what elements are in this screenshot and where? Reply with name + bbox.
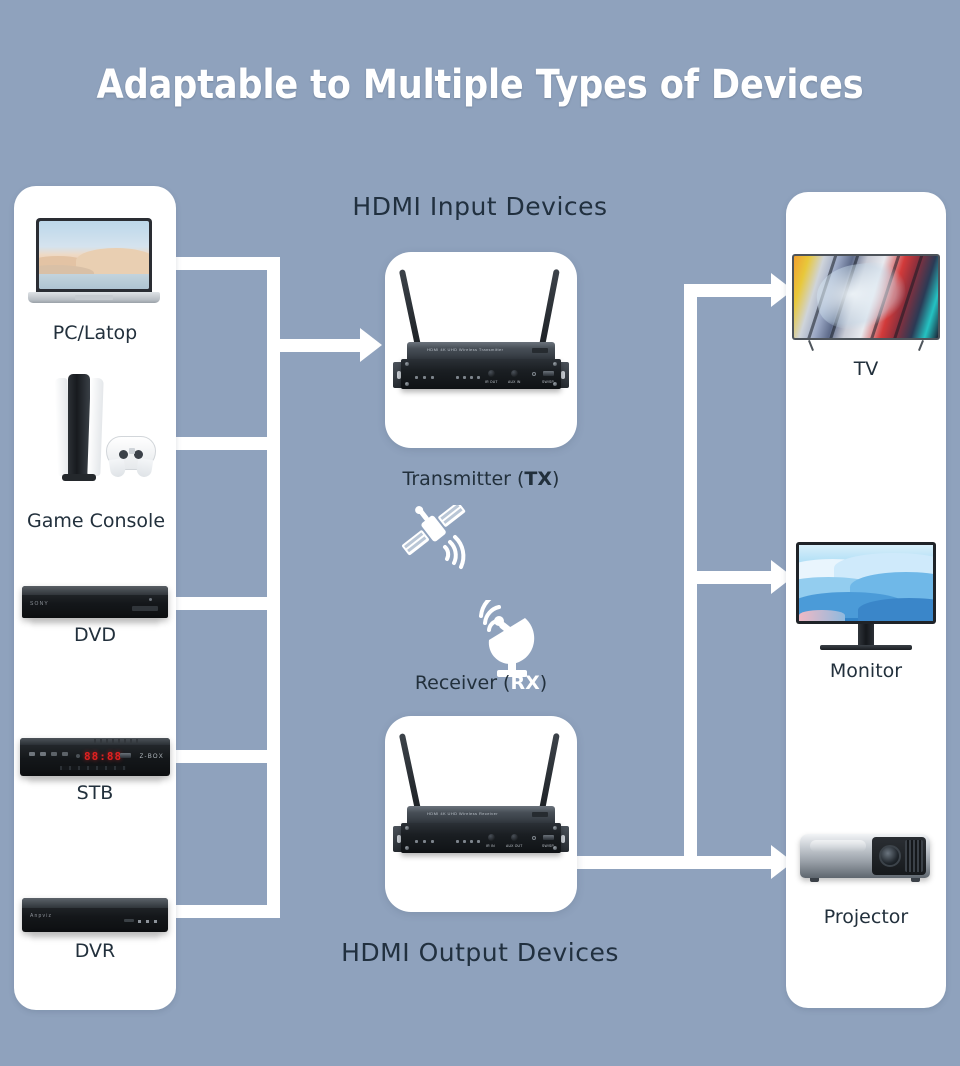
output-section-heading: HDMI Output Devices <box>310 938 650 967</box>
dvr-brand: Anpviz <box>30 913 52 919</box>
dvd-player-icon: SONY <box>22 586 168 620</box>
transmitter-port-ir-label: IR OUT <box>485 380 498 384</box>
input-device-label-dvr: DVR <box>14 940 176 962</box>
connector-run-receiver-to-projector <box>566 856 774 869</box>
connector-stub-stb <box>176 750 280 763</box>
set-top-box-icon: 88:88 Z-BOX <box>20 738 170 778</box>
transmitter-port-sw-label: SW/SP <box>542 380 554 384</box>
input-device-label-stb: STB <box>14 782 176 804</box>
receiver-device-icon: HDMI 4K UHD Wireless Receiver IR IN AUX … <box>393 732 569 864</box>
diagram-canvas: Adaptable to Multiple Types of Devices P… <box>0 0 960 1066</box>
connector-trunk-left <box>267 257 280 918</box>
tv-icon <box>792 254 940 352</box>
page-title: Adaptable to Multiple Types of Devices <box>58 62 903 108</box>
transmitter-device-icon: HDMI 4K UHD Wireless Transmitter IR OUT … <box>393 268 569 400</box>
game-console-icon <box>34 374 160 486</box>
transmitter-label-prefix: Transmitter ( <box>403 468 525 490</box>
transmitter-top-text: HDMI 4K UHD Wireless Transmitter <box>427 347 503 352</box>
input-device-label-console: Game Console <box>8 510 184 532</box>
stb-brand: Z-BOX <box>140 754 164 760</box>
laptop-icon <box>28 218 160 304</box>
output-device-label-projector: Projector <box>786 906 946 928</box>
connector-stub-dvd <box>176 597 280 610</box>
dvd-brand: SONY <box>30 601 49 607</box>
receiver-top-text: HDMI 4K UHD Wireless Receiver <box>427 811 498 816</box>
connector-run-to-transmitter <box>267 339 363 352</box>
transmitter-label: Transmitter (TX) <box>381 468 581 490</box>
connector-stub-dvr <box>176 905 280 918</box>
transmitter-port-aux-label: AUX IN <box>508 380 521 384</box>
connector-run-to-tv <box>684 284 774 297</box>
input-device-label-pc: PC/Latop <box>14 322 176 344</box>
stb-display: 88:88 <box>84 750 122 763</box>
connector-stub-pc <box>176 257 280 270</box>
receiver-label-prefix: Receiver ( <box>415 672 511 694</box>
receiver-port-aux-label: AUX OUT <box>506 844 522 848</box>
dvr-icon: Anpviz <box>22 898 168 934</box>
receiver-port-ir-label: IR IN <box>486 844 495 848</box>
input-section-heading: HDMI Input Devices <box>310 192 650 221</box>
satellite-transmitting-icon <box>398 505 490 575</box>
connector-run-to-monitor <box>684 571 774 584</box>
connector-stub-console <box>176 437 280 450</box>
connector-trunk-right-foot <box>684 856 697 869</box>
transmitter-label-suffix: ) <box>552 468 559 490</box>
transmitter-label-code: TX <box>524 468 552 490</box>
output-device-label-tv: TV <box>786 358 946 380</box>
receiver-label-suffix: ) <box>540 672 547 694</box>
input-device-label-dvd: DVD <box>14 624 176 646</box>
receiver-port-sw-label: SW/SP <box>542 844 554 848</box>
monitor-icon <box>796 542 936 652</box>
receiver-label: Receiver (RX) <box>381 672 581 694</box>
receiver-label-code: RX <box>510 672 539 694</box>
arrow-to-transmitter <box>360 328 382 362</box>
projector-icon <box>800 834 930 886</box>
output-device-label-monitor: Monitor <box>786 660 946 682</box>
